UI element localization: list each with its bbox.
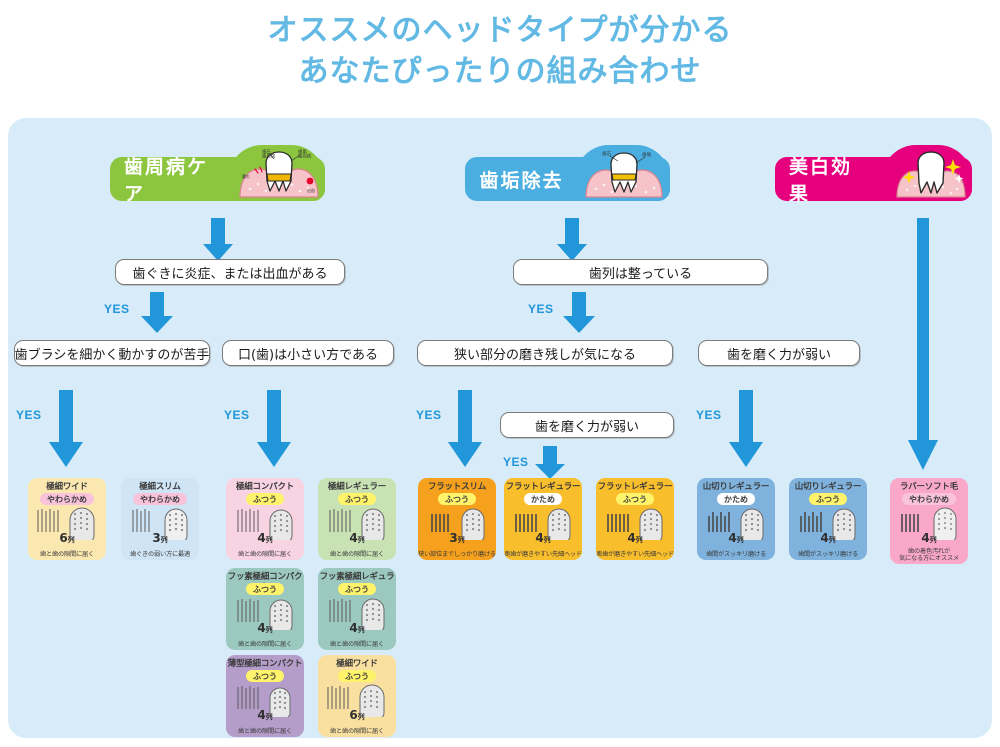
product-card-p11[interactable]: フラットレギュラー ふつう 4列 奥歯が磨きやすい先細ヘッド bbox=[596, 478, 674, 560]
svg-text:歯周病: 歯周病 bbox=[298, 153, 312, 160]
yes-label-6: YES bbox=[696, 408, 722, 422]
arrow-q4-to-products bbox=[256, 390, 292, 468]
product-rows: 4列 bbox=[789, 532, 867, 546]
category-badge-whitening[interactable]: 美白効果 bbox=[775, 145, 972, 201]
page-title-line1: オススメのヘッドタイプが分かる bbox=[0, 10, 1000, 51]
product-rows: 4列 bbox=[890, 532, 968, 546]
question-box-q7[interactable]: 歯を磨く力が弱い bbox=[500, 412, 674, 438]
product-card-p13[interactable]: 山切りレギュラー ふつう 4列 歯間がスッキリ磨ける bbox=[789, 478, 867, 560]
arrow-q5-to-flat-slim bbox=[447, 390, 483, 468]
product-card-p14[interactable]: ラバーソフト毛 やわらかめ 4列 歯の着色汚れが 気になる方にオススメ bbox=[890, 478, 968, 564]
product-hardness: ふつう bbox=[438, 493, 476, 505]
question-box-q4[interactable]: 口(歯)は小さい方である bbox=[222, 340, 394, 366]
product-name: 極細レギュラー bbox=[318, 482, 396, 492]
product-rows: 4列 bbox=[226, 532, 304, 546]
tooth-sparkle-icon bbox=[887, 147, 971, 201]
product-rows: 6列 bbox=[318, 709, 396, 723]
product-card-p4[interactable]: 極細レギュラー ふつう 4列 歯と歯の隙間に届く bbox=[318, 478, 396, 560]
product-desc: 歯と歯の隙間に届く bbox=[226, 551, 304, 558]
product-desc: 歯ぐきの弱い方に最適 bbox=[121, 551, 199, 558]
product-hardness: ふつう bbox=[246, 670, 284, 682]
svg-text:歯石: 歯石 bbox=[602, 150, 612, 157]
question-box-q6[interactable]: 歯を磨く力が弱い bbox=[698, 340, 860, 366]
product-desc: 歯と歯の隙間に届く bbox=[318, 551, 396, 558]
product-rows: 4列 bbox=[596, 532, 674, 546]
category-badge-periodontal[interactable]: 歯周病ケア 歯石 歯周病 歯垢 歯周病 腫れ 出血 bbox=[110, 145, 325, 201]
product-desc: 狭い部位までしっかり磨ける bbox=[418, 551, 496, 558]
arrow-whitening-to-rubber-soft bbox=[907, 218, 939, 473]
product-name: 極細ワイド bbox=[28, 482, 106, 492]
product-rows: 3列 bbox=[418, 532, 496, 546]
yes-label-2: YES bbox=[528, 302, 554, 316]
question-box-q3[interactable]: 歯ブラシを細かく動かすのが苦手 bbox=[14, 340, 210, 366]
product-hardness: やわらかめ bbox=[40, 493, 94, 505]
product-hardness: ふつう bbox=[616, 493, 654, 505]
yes-label-5: YES bbox=[416, 408, 442, 422]
product-desc: 歯と歯の隙間に届く bbox=[226, 641, 304, 648]
question-box-q1[interactable]: 歯ぐきに炎症、または出血がある bbox=[115, 259, 345, 285]
product-name: 山切りレギュラー bbox=[697, 482, 775, 492]
product-rows: 3列 bbox=[121, 532, 199, 546]
product-rows: 4列 bbox=[504, 532, 582, 546]
product-hardness: ふつう bbox=[809, 493, 847, 505]
arrow-plaque-to-q2 bbox=[556, 218, 588, 262]
product-desc: 歯間がスッキリ磨ける bbox=[697, 551, 775, 558]
page-title-line2: あなたぴったりの組み合わせ bbox=[0, 51, 1000, 92]
product-card-p3[interactable]: 極細コンパクト ふつう 4列 歯と歯の隙間に届く bbox=[226, 478, 304, 560]
category-label-periodontal: 歯周病ケア bbox=[124, 152, 213, 206]
question-box-q2[interactable]: 歯列は整っている bbox=[513, 259, 768, 285]
product-desc: 奥歯が磨きやすい先細ヘッド bbox=[504, 551, 582, 558]
product-rows: 4列 bbox=[697, 532, 775, 546]
product-desc: 歯の着色汚れが 気になる方にオススメ bbox=[890, 548, 968, 562]
product-card-p10[interactable]: フラットレギュラー かため 4列 奥歯が磨きやすい先細ヘッド bbox=[504, 478, 582, 560]
product-card-p1[interactable]: 極細ワイド やわらかめ 6列 歯と歯の隙間に届く bbox=[28, 478, 106, 560]
yes-label-3: YES bbox=[16, 408, 42, 422]
product-card-p6[interactable]: フッ素極細レギュラー ふつう 4列 歯と歯の隙間に届く bbox=[318, 568, 396, 650]
product-card-p9[interactable]: フラットスリム ふつう 3列 狭い部位までしっかり磨ける bbox=[418, 478, 496, 560]
question-box-q5[interactable]: 狭い部分の磨き残しが気になる bbox=[417, 340, 673, 366]
product-name: 極細スリム bbox=[121, 482, 199, 492]
product-desc: 歯と歯の隙間に届く bbox=[28, 551, 106, 558]
product-name: フラットレギュラー bbox=[504, 482, 582, 492]
product-name: 山切りレギュラー bbox=[789, 482, 867, 492]
product-card-p5[interactable]: フッ素極細コンパクト ふつう 4列 歯と歯の隙間に届く bbox=[226, 568, 304, 650]
arrow-q1-to-q3 bbox=[140, 292, 174, 334]
product-desc: 歯と歯の隙間に届く bbox=[318, 641, 396, 648]
product-card-p12[interactable]: 山切りレギュラー かため 4列 歯間がスッキリ磨ける bbox=[697, 478, 775, 560]
product-card-p8[interactable]: 極細ワイド ふつう 6列 歯と歯の隙間に届く bbox=[318, 655, 396, 737]
product-name: フラットスリム bbox=[418, 482, 496, 492]
svg-text:歯垢: 歯垢 bbox=[642, 151, 652, 158]
category-label-plaque: 歯垢除去 bbox=[479, 166, 563, 193]
product-rows: 6列 bbox=[28, 532, 106, 546]
yes-label-4: YES bbox=[224, 408, 250, 422]
product-desc: 歯と歯の隙間に届く bbox=[226, 728, 304, 735]
arrow-q2-to-q5 bbox=[562, 292, 596, 334]
product-hardness: やわらかめ bbox=[133, 493, 187, 505]
product-name: 薄型極細コンパクト bbox=[226, 659, 304, 669]
product-desc: 奥歯が磨きやすい先細ヘッド bbox=[596, 551, 674, 558]
product-name: フラットレギュラー bbox=[596, 482, 674, 492]
product-hardness: ふつう bbox=[338, 670, 376, 682]
product-hardness: かため bbox=[717, 493, 755, 505]
product-name: 極細ワイド bbox=[318, 659, 396, 669]
product-hardness: やわらかめ bbox=[902, 493, 956, 505]
category-badge-plaque[interactable]: 歯垢除去 歯石 歯垢 bbox=[465, 145, 670, 201]
tooth-plaque-icon: 歯石 歯垢 bbox=[580, 147, 668, 201]
category-label-whitening: 美白効果 bbox=[789, 152, 870, 206]
product-rows: 4列 bbox=[318, 622, 396, 636]
product-rows: 4列 bbox=[226, 709, 304, 723]
product-rows: 4列 bbox=[318, 532, 396, 546]
yes-label-7: YES bbox=[503, 455, 529, 469]
svg-text:腫れ: 腫れ bbox=[242, 173, 250, 179]
svg-text:歯周病: 歯周病 bbox=[262, 153, 276, 160]
arrow-periodontal-to-q1 bbox=[202, 218, 234, 262]
arrow-q7-to-products bbox=[534, 446, 566, 480]
product-hardness: ふつう bbox=[246, 583, 284, 595]
svg-text:出血: 出血 bbox=[307, 187, 315, 193]
product-desc: 歯と歯の隙間に届く bbox=[318, 728, 396, 735]
product-card-p2[interactable]: 極細スリム やわらかめ 3列 歯ぐきの弱い方に最適 bbox=[121, 478, 199, 560]
product-card-p7[interactable]: 薄型極細コンパクト ふつう 4列 歯と歯の隙間に届く bbox=[226, 655, 304, 737]
product-name: ラバーソフト毛 bbox=[890, 482, 968, 492]
arrow-q6-to-products bbox=[728, 390, 764, 468]
product-hardness: かため bbox=[524, 493, 562, 505]
product-rows: 4列 bbox=[226, 622, 304, 636]
product-desc: 歯間がスッキリ磨ける bbox=[789, 551, 867, 558]
tooth-gum-inflammation-icon: 歯石 歯周病 歯垢 歯周病 腫れ 出血 bbox=[234, 147, 324, 201]
product-hardness: ふつう bbox=[338, 493, 376, 505]
product-name: 極細コンパクト bbox=[226, 482, 304, 492]
page-title: オススメのヘッドタイプが分かる あなたぴったりの組み合わせ bbox=[0, 10, 1000, 92]
yes-label-1: YES bbox=[104, 302, 130, 316]
product-hardness: ふつう bbox=[338, 583, 376, 595]
arrow-q3-to-products bbox=[48, 390, 84, 468]
product-hardness: ふつう bbox=[246, 493, 284, 505]
